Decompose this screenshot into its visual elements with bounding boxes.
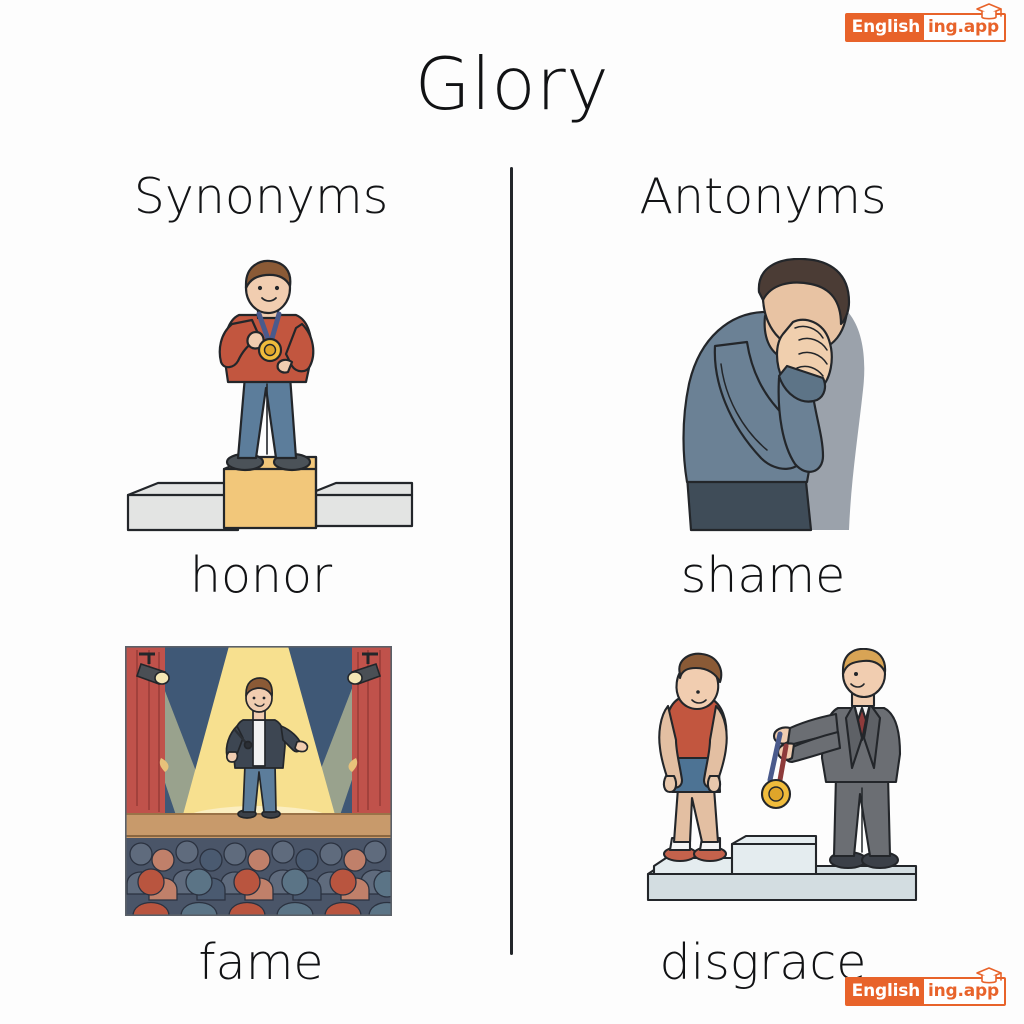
column-heading-synonyms: Synonyms [26,168,496,225]
brand-logo-top[interactable]: English ing.app [845,14,1006,40]
caption-shame: shame [528,547,998,604]
illustration-disgrace [640,648,924,924]
brand-name-part-a: English [847,15,924,40]
caption-honor: honor [26,547,496,604]
worksheet-page: English ing.app Glory Synonyms Antonyms [0,0,1024,1024]
caption-fame: fame [26,934,496,991]
column-heading-antonyms: Antonyms [528,168,998,225]
illustration-shame [655,258,925,538]
illustration-honor [120,258,420,538]
column-divider [510,167,513,955]
brand-logo-bottom[interactable]: English ing.app [845,978,1006,1004]
brand-name-part-a: English [847,979,924,1004]
page-title: Glory [0,42,1024,126]
illustration-fame [125,646,392,916]
graduation-cap-icon [974,1,1004,27]
graduation-cap-icon [974,965,1004,991]
